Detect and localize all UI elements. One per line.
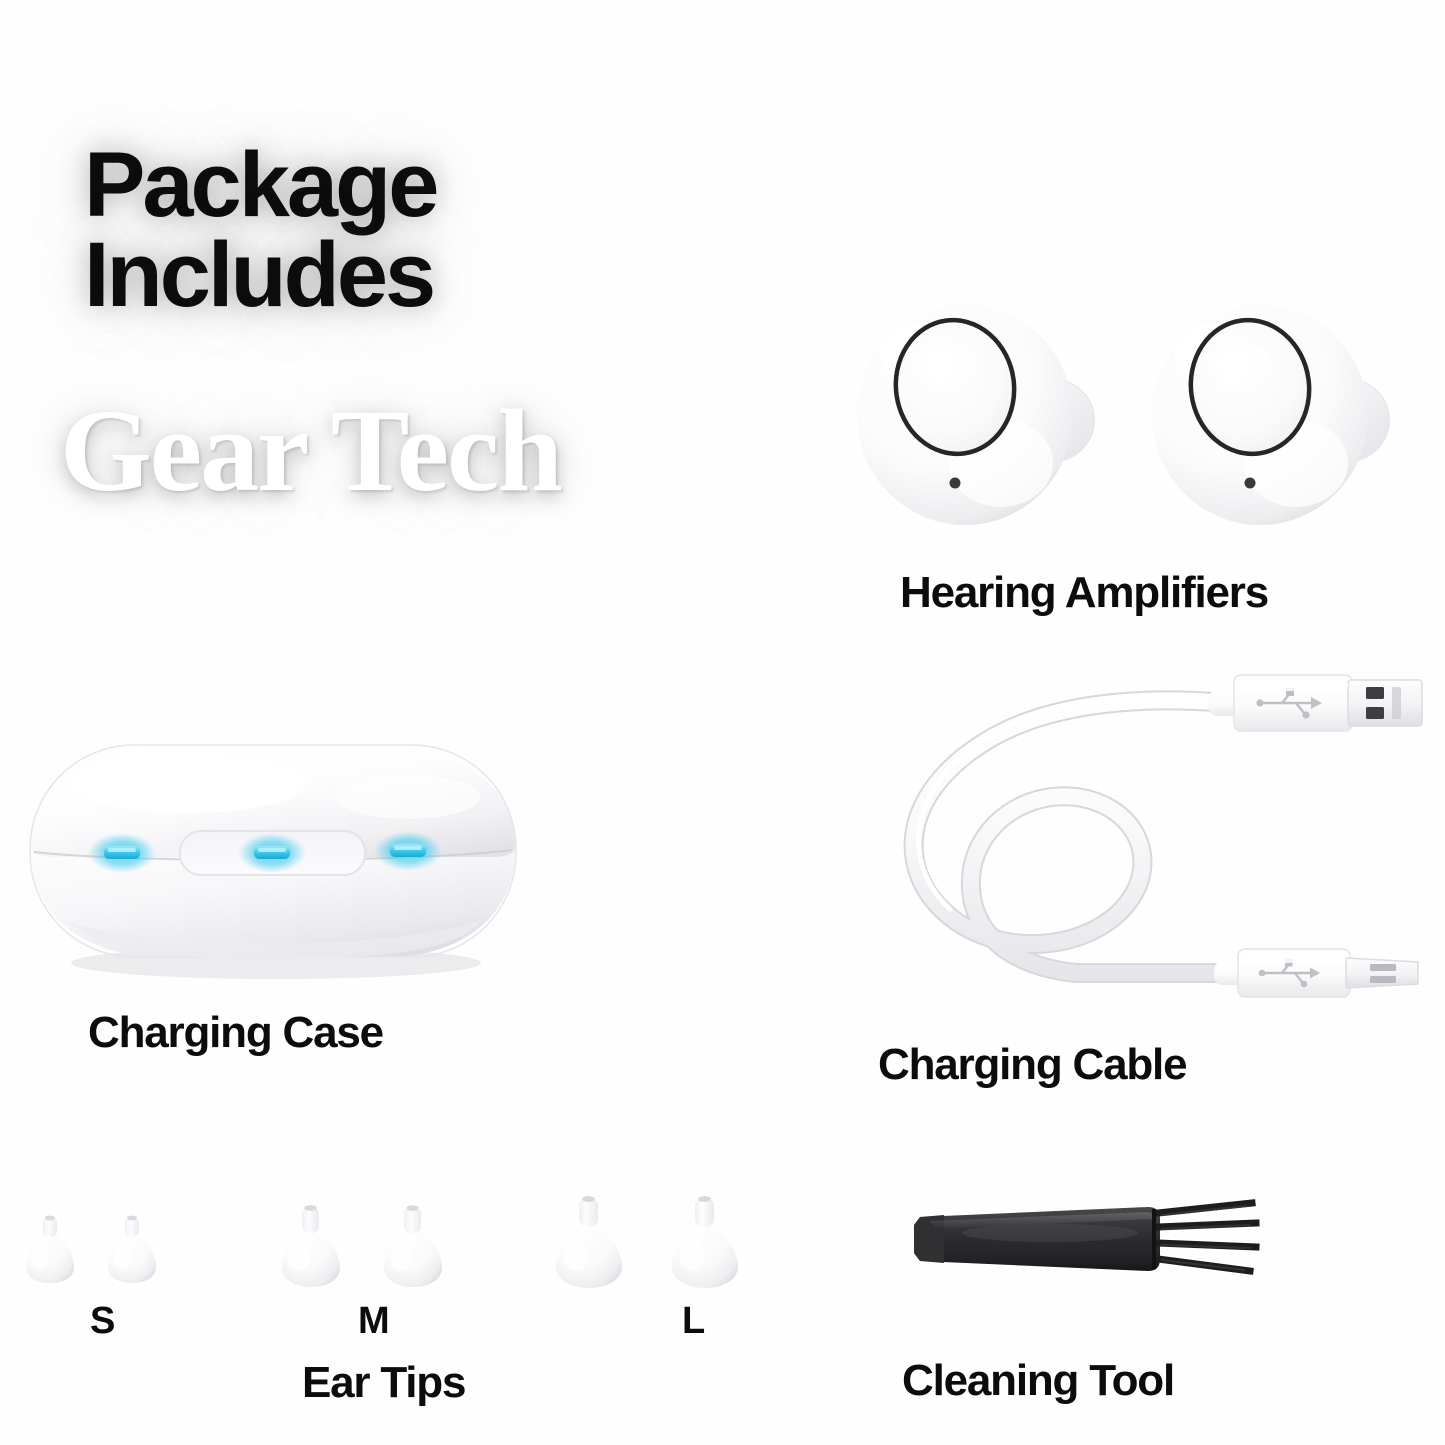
usb-cable-icon [830, 665, 1440, 1015]
ear-tip-large-pair [556, 1196, 738, 1288]
earbuds-pair-icon [855, 285, 1435, 555]
ear-tip-size-l-label: L [682, 1300, 705, 1343]
ear-tip-size-m-label: M [358, 1300, 390, 1343]
micro-usb-connector-icon [1214, 949, 1418, 997]
package-includes-infographic: Package Includes Gear Tech [0, 0, 1445, 1445]
ear-tips-icon [0, 1185, 830, 1295]
ear-tips-label: Ear Tips [302, 1358, 465, 1408]
cleaning-brush-icon [900, 1185, 1270, 1295]
charging-case-label: Charging Case [88, 1008, 383, 1058]
charging-case-icon [8, 735, 538, 980]
hearing-amplifiers-label: Hearing Amplifiers [900, 568, 1268, 618]
ear-tip-small-pair [26, 1216, 156, 1283]
earbud-right-icon [1150, 295, 1420, 545]
charging-cable-label: Charging Cable [878, 1040, 1186, 1090]
cleaning-tool-label: Cleaning Tool [902, 1356, 1174, 1406]
brand-wordmark: Gear Tech [60, 392, 820, 510]
ear-tip-size-s-label: S [90, 1300, 115, 1343]
ear-tip-medium-pair [282, 1205, 442, 1287]
earbud-left-icon [855, 295, 1125, 545]
page-title: Package Includes [84, 140, 724, 320]
usb-a-connector-icon [1208, 675, 1422, 731]
